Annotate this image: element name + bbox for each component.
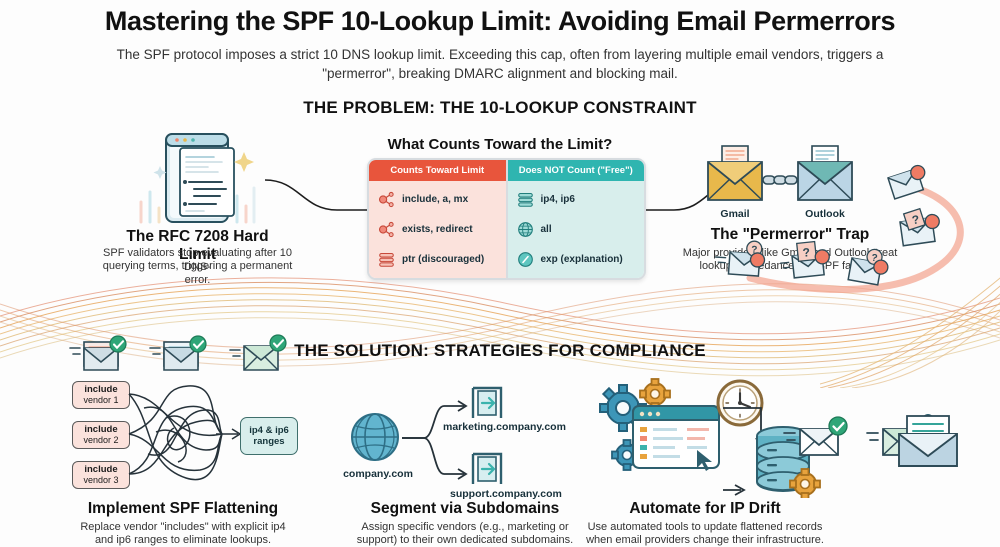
limit-table: Counts Toward Limit include, a, mx xyxy=(367,158,646,280)
solution-title-subdomains: Segment via Subdomains xyxy=(330,500,600,518)
solution-card-subdomains: company.com marketing.company.com suppor… xyxy=(330,378,600,538)
subdomain-label-support: support.company.com xyxy=(450,488,562,500)
limit-table-heading: What Counts Toward the Limit? xyxy=(355,136,645,153)
ip-ranges-output-box: ip4 & ip6 ranges xyxy=(240,417,298,455)
failing-envelopes-swirl: ? ? ? xyxy=(700,162,1000,317)
database-stack-icon xyxy=(517,191,534,208)
node-graph-icon xyxy=(378,221,395,238)
solution-card-flattening: include vendor 1 include vendor 2 includ… xyxy=(58,378,308,538)
solution-caption-subdomains-line1: Assign specific vendors (e.g., marketing… xyxy=(330,520,600,534)
vendor-include-name: vendor 3 xyxy=(83,475,118,486)
infographic-canvas: Mastering the SPF 10-Lookup Limit: Avoid… xyxy=(0,0,1000,543)
vendor-include-box: include vendor 2 xyxy=(72,421,130,449)
root-domain-label: company.com xyxy=(333,468,423,480)
globe-icon xyxy=(517,221,534,238)
node-graph-icon xyxy=(378,191,395,208)
table-cell-label: ip4, ip6 xyxy=(541,194,575,205)
svg-text:?: ? xyxy=(802,245,811,260)
table-cell-label: ptr (discouraged) xyxy=(402,254,484,265)
table-cell-label: all xyxy=(541,224,552,235)
solution-caption-flattening-line1: Replace vendor "includes" with explicit … xyxy=(53,520,313,534)
doorway-exit-icon xyxy=(470,384,504,420)
solution-caption-subdomains-line2: support) to their own dedicated subdomai… xyxy=(330,533,600,547)
page-subtitle: The SPF protocol imposes a strict 10 DNS… xyxy=(110,45,890,83)
limit-table-column-free: Does NOT Count ("Free") ip4, ip6 xyxy=(508,160,645,278)
vendor-include-name: vendor 1 xyxy=(83,395,118,406)
table-cell-label: exists, redirect xyxy=(402,224,473,235)
verified-envelopes-row-left xyxy=(68,330,298,376)
section-heading-problem: THE PROBLEM: THE 10-LOOKUP CONSTRAINT xyxy=(0,98,1000,118)
ip-ranges-line1: ip4 & ip6 xyxy=(249,425,289,436)
limit-table-column-counts: Counts Toward Limit include, a, mx xyxy=(369,160,506,278)
rfc-hard-limit-card: The RFC 7208 Hard Limit SPF validators s… xyxy=(110,126,285,266)
doorway-exit-icon xyxy=(470,450,504,486)
table-row: exp (explanation) xyxy=(517,251,645,268)
table-cell-label: include, a, mx xyxy=(402,194,468,205)
info-circle-icon xyxy=(517,251,534,268)
flattening-tangle-lines xyxy=(126,378,246,493)
limit-table-header-free: Does NOT Count ("Free") xyxy=(508,160,645,181)
vendor-include-box: include vendor 1 xyxy=(72,381,130,409)
table-row: exists, redirect xyxy=(378,221,506,238)
solution-caption-flattening-line2: and ip6 ranges to eliminate lookups. xyxy=(53,533,313,547)
vendor-include-kind: include xyxy=(84,465,117,476)
database-stack-icon xyxy=(378,251,395,268)
limit-table-header-counts: Counts Toward Limit xyxy=(369,160,506,181)
table-row: ip4, ip6 xyxy=(517,191,645,208)
page-title: Mastering the SPF 10-Lookup Limit: Avoid… xyxy=(0,6,1000,37)
vendor-include-box: include vendor 3 xyxy=(72,461,130,489)
document-on-tablet-icon xyxy=(132,126,262,236)
solution-caption-automate-line2: when email providers change their infras… xyxy=(575,533,835,547)
rfc-card-caption-line2: querying terms, triggering a permanent e… xyxy=(102,259,293,287)
table-row: ptr (discouraged) xyxy=(378,251,506,268)
subdomain-label-marketing: marketing.company.com xyxy=(443,421,566,433)
vendor-include-kind: include xyxy=(84,425,117,436)
solution-caption-automate-line1: Use automated tools to update flattened … xyxy=(575,520,835,534)
solution-title-automate: Automate for IP Drift xyxy=(575,500,835,518)
ip-ranges-line2: ranges xyxy=(253,436,284,447)
globe-icon xyxy=(348,410,402,464)
table-row: include, a, mx xyxy=(378,191,506,208)
vendor-include-kind: include xyxy=(84,385,117,396)
table-cell-label: exp (explanation) xyxy=(541,254,623,265)
vendor-include-name: vendor 2 xyxy=(83,435,118,446)
open-envelope-with-letter-icon xyxy=(895,410,961,472)
solution-title-flattening: Implement SPF Flattening xyxy=(53,500,313,518)
table-row: all xyxy=(517,221,645,238)
